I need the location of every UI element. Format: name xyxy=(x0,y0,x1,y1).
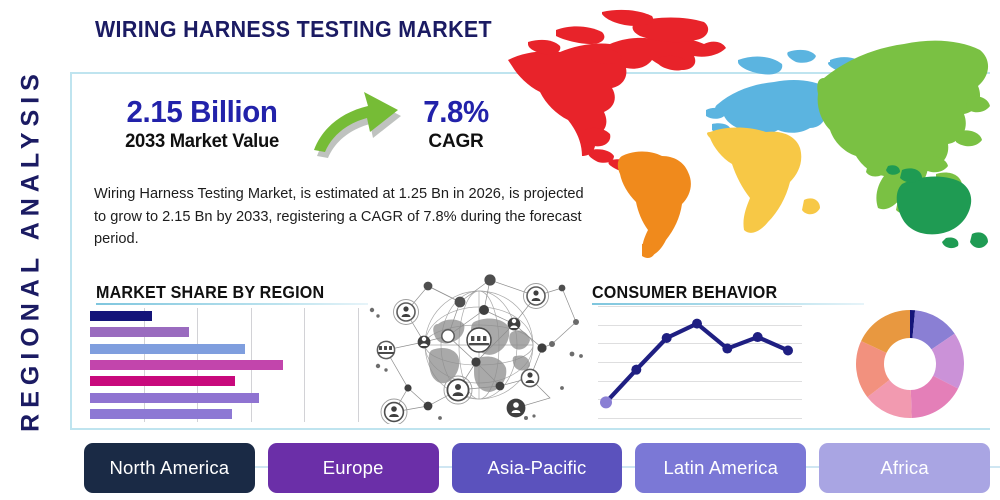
consumer-behavior-line-chart xyxy=(598,306,802,420)
market-value-stat: 2.15 Billion 2033 Market Value xyxy=(96,96,308,153)
consumer-behavior-rule xyxy=(592,303,864,305)
side-label-text: REGIONAL ANALYSIS xyxy=(17,68,46,432)
region-button-africa[interactable]: Africa xyxy=(819,443,990,493)
global-network-globe-icon xyxy=(366,266,592,424)
bar-gridline xyxy=(358,308,359,422)
region-button-asia-pacific[interactable]: Asia-Pacific xyxy=(452,443,623,493)
market-share-bar-chart xyxy=(90,308,358,422)
market-value-label: 2033 Market Value xyxy=(99,131,305,153)
region-button-label: Asia-Pacific xyxy=(487,457,586,479)
bar-chart-bar xyxy=(90,344,245,354)
line-marker xyxy=(722,344,732,354)
region-button-label: Latin America xyxy=(663,457,778,479)
region-button-label: North America xyxy=(109,457,229,479)
market-value-number: 2.15 Billion xyxy=(101,96,302,129)
line-marker xyxy=(600,396,612,408)
consumer-behavior-heading: CONSUMER BEHAVIOR xyxy=(592,282,777,303)
line-marker xyxy=(783,345,793,355)
region-nav: North AmericaEuropeAsia-PacificLatin Ame… xyxy=(84,443,990,493)
page-title: WIRING HARNESS TESTING MARKET xyxy=(95,16,492,43)
region-button-europe[interactable]: Europe xyxy=(268,443,439,493)
line-marker xyxy=(662,333,672,343)
market-share-rule xyxy=(96,303,368,305)
line-series xyxy=(598,306,802,420)
region-button-latin-america[interactable]: Latin America xyxy=(635,443,806,493)
line-marker xyxy=(753,332,763,342)
line-marker xyxy=(631,365,641,375)
infographic-root: REGIONAL ANALYSIS WIRING HARNESS TESTING… xyxy=(0,0,1000,500)
side-label: REGIONAL ANALYSIS xyxy=(0,0,62,500)
bar-chart-bar xyxy=(90,311,152,321)
growth-arrow-icon xyxy=(312,82,418,162)
market-share-heading: MARKET SHARE BY REGION xyxy=(96,282,324,303)
region-button-label: Africa xyxy=(880,457,929,479)
region-button-north-america[interactable]: North America xyxy=(84,443,255,493)
cagr-label: CAGR xyxy=(404,131,508,153)
bar-chart-bar xyxy=(90,360,283,370)
region-button-label: Europe xyxy=(323,457,384,479)
consumer-behavior-donut-chart xyxy=(852,306,968,422)
cagr-number: 7.8% xyxy=(407,96,506,129)
line-marker xyxy=(692,319,702,329)
bar-chart-bar xyxy=(90,327,189,337)
cagr-stat: 7.8% CAGR xyxy=(404,96,508,153)
bar-gridline xyxy=(304,308,305,422)
bar-chart-bar xyxy=(90,376,235,386)
world-map-icon xyxy=(498,8,998,266)
bar-chart-bar xyxy=(90,393,259,403)
bar-chart-bar xyxy=(90,409,232,419)
